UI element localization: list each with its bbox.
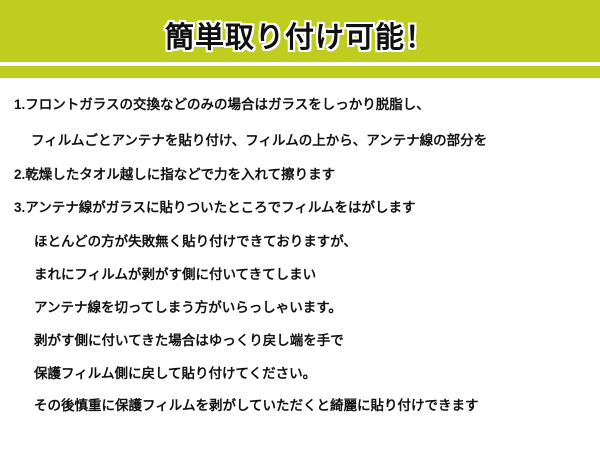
instruction-line: 1.フロントガラスの交換などのみの場合はガラスをしっかり脱脂し、 bbox=[14, 98, 430, 112]
instruction-line: ほとんどの方が失敗無く貼り付けできておりますが、 bbox=[34, 235, 357, 249]
instruction-line: 剥がす側に付いてきた場合はゆっくり戻し端を手で bbox=[34, 334, 344, 348]
header-divider bbox=[0, 62, 600, 66]
header-banner: 簡単取り付け可能！ bbox=[0, 0, 600, 78]
instruction-panel: 簡単取り付け可能！ 1.フロントガラスの交換などのみの場合はガラスをしっかり脱脂… bbox=[0, 0, 600, 450]
instruction-line: 保護フィルム側に戻して貼り付けてください。 bbox=[34, 367, 316, 381]
page-title: 簡単取り付け可能！ bbox=[0, 14, 600, 56]
instruction-line: その後慎重に保護フィルムを剥がしていただくと綺麗に貼り付けできます bbox=[34, 399, 479, 413]
instruction-line: まれにフィルムが剥がす側に付いてきてしまい bbox=[34, 268, 316, 282]
instruction-line: 2.乾燥したタオル越しに指などで力を入れて擦ります bbox=[14, 168, 335, 182]
instruction-text-block: 1.フロントガラスの交換などのみの場合はガラスをしっかり脱脂し、フィルムごとアン… bbox=[0, 78, 600, 450]
instruction-line: アンテナ線を切ってしまう方がいらっしゃいます。 bbox=[34, 301, 342, 315]
instruction-line: 3.アンテナ線がガラスに貼りついたところでフィルムをはがします bbox=[14, 201, 416, 215]
instruction-line: フィルムごとアンテナを貼り付け、フィルムの上から、アンテナ線の部分を bbox=[31, 134, 487, 148]
